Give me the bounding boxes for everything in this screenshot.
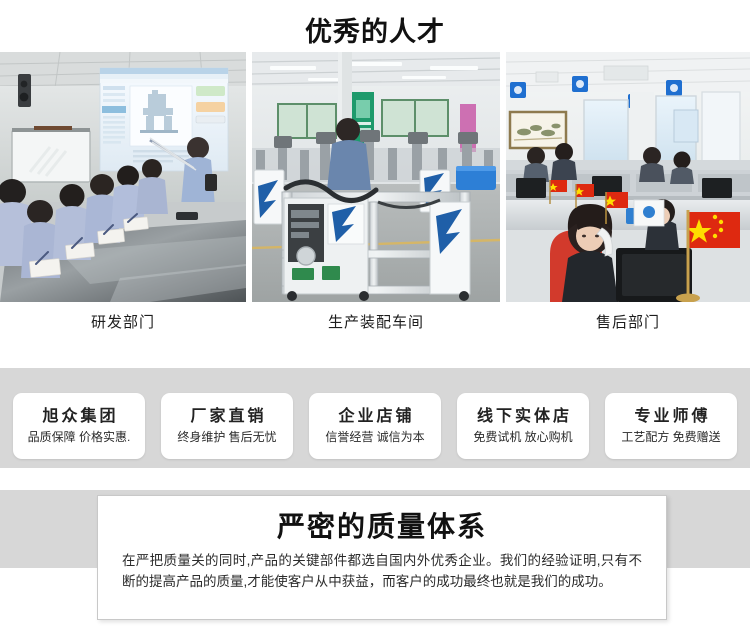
caption-after-sales-department: 售后部门 [506, 311, 750, 332]
factory-workshop-illustration [252, 52, 500, 302]
guarantee-badge-row: 旭众集团 品质保障 价格实惠. 厂家直销 终身维护 售后无忧 企业店铺 信誉经营… [0, 393, 750, 459]
badge-subtitle: 工艺配方 免费赠送 [621, 428, 720, 446]
badge-xuzhong-group[interactable]: 旭众集团 品质保障 价格实惠. [13, 393, 145, 459]
office-cubicles-illustration [506, 52, 750, 302]
gallery-captions: 研发部门 生产装配车间 售后部门 [0, 302, 750, 332]
badge-offline-physical-store[interactable]: 线下实体店 免费试机 放心购机 [457, 393, 589, 459]
caption-rd-department: 研发部门 [0, 311, 246, 332]
badge-subtitle: 品质保障 价格实惠. [28, 428, 131, 446]
quality-system-panel: 严密的质量体系 在严把质量关的同时,产品的关键部件都选自国内外优秀企业。我们的经… [97, 495, 667, 620]
badge-factory-direct-sales[interactable]: 厂家直销 终身维护 售后无忧 [161, 393, 293, 459]
badge-subtitle: 信誉经营 诚信为本 [325, 428, 424, 446]
badge-title: 线下实体店 [474, 406, 572, 428]
gallery-photo-after-sales-office[interactable] [506, 52, 750, 302]
badge-title: 厂家直销 [187, 406, 266, 428]
caption-production-workshop: 生产装配车间 [252, 311, 500, 332]
gallery-photo-rd-department[interactable] [0, 52, 246, 302]
badge-title: 专业师傅 [631, 406, 710, 428]
photo-gallery [0, 48, 750, 302]
badge-subtitle: 终身维护 售后无忧 [177, 428, 276, 446]
meeting-room-illustration [0, 52, 246, 302]
quality-panel-title: 严密的质量体系 [98, 496, 666, 544]
quality-panel-body: 在严把质量关的同时,产品的关键部件都选自国内外优秀企业。我们的经验证明,只有不断… [98, 544, 666, 592]
badge-professional-master[interactable]: 专业师傅 工艺配方 免费赠送 [605, 393, 737, 459]
page-title: 优秀的人才 [0, 0, 750, 48]
badge-title: 企业店铺 [335, 406, 414, 428]
badge-enterprise-store[interactable]: 企业店铺 信誉经营 诚信为本 [309, 393, 441, 459]
badge-title: 旭众集团 [39, 406, 118, 428]
badge-subtitle: 免费试机 放心购机 [473, 428, 572, 446]
gallery-photo-production-workshop[interactable] [252, 52, 500, 302]
